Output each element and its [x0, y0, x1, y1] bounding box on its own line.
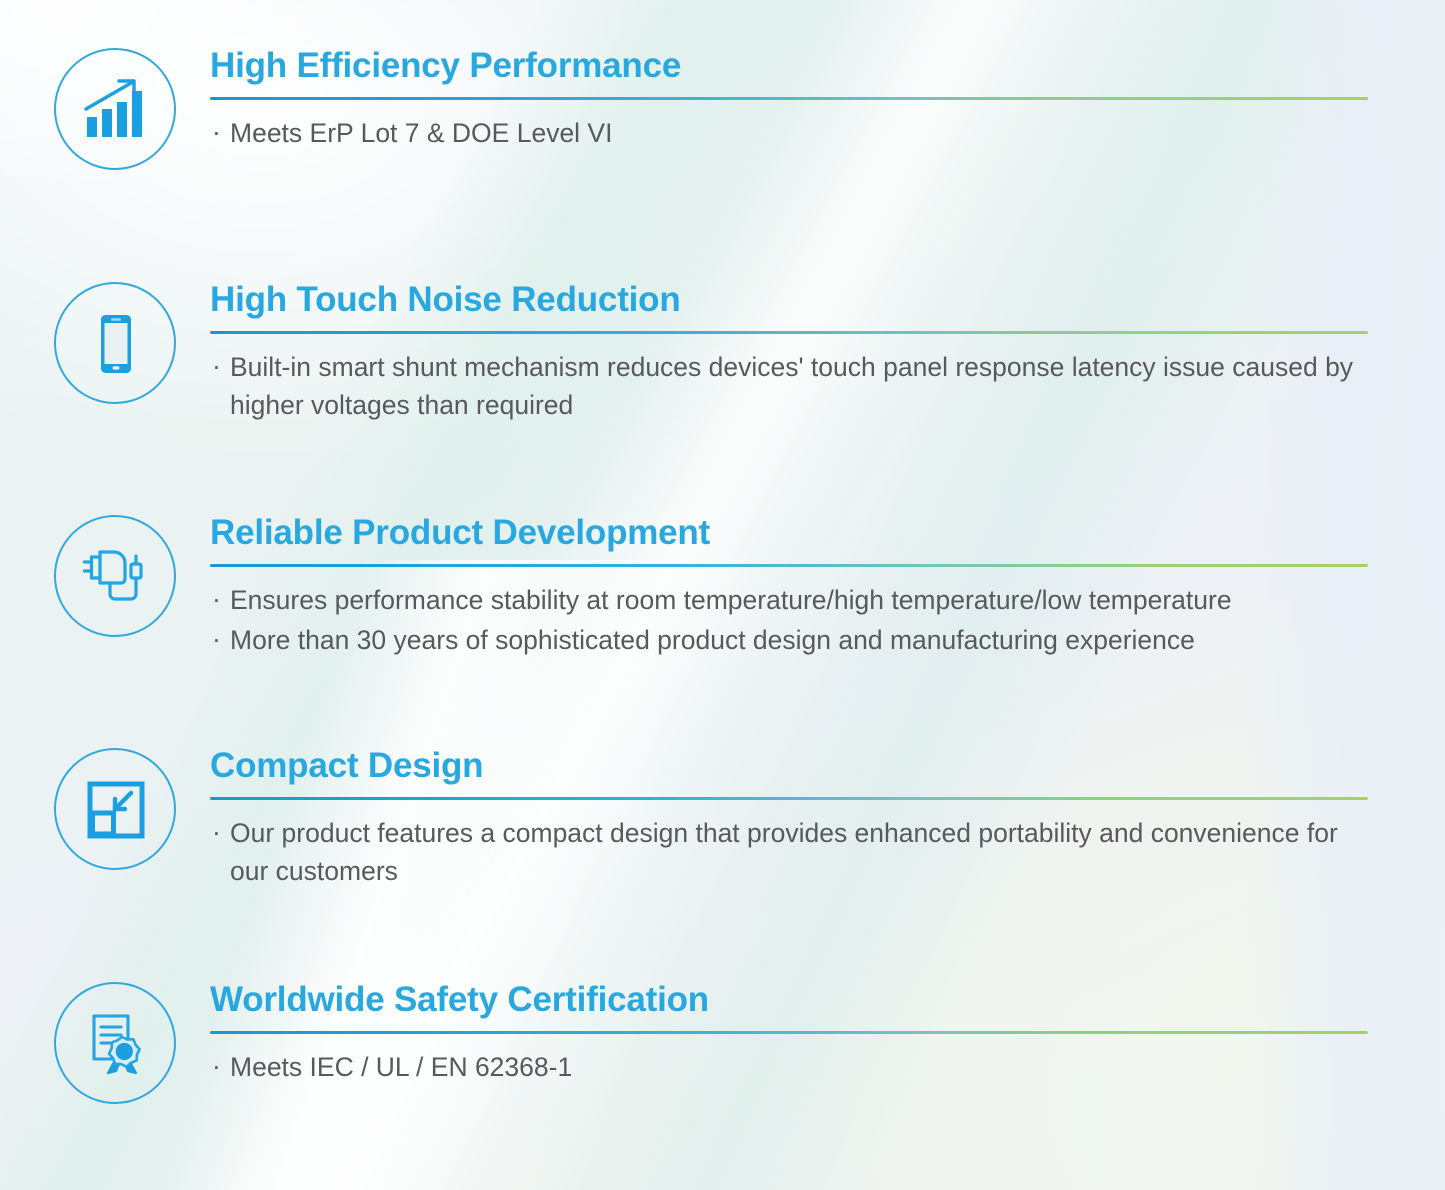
- smartphone-icon: [81, 309, 151, 379]
- feature-title: Compact Design: [210, 748, 1373, 783]
- feature-divider: [210, 331, 1368, 334]
- feature-icon-wrap: [54, 282, 178, 406]
- feature-title: Worldwide Safety Certification: [210, 982, 1373, 1017]
- feature-divider: [210, 1031, 1368, 1034]
- feature-item-worldwide-safety-certification: Worldwide Safety Certification Meets IEC…: [0, 982, 1445, 1106]
- feature-item-high-touch-noise-reduction: High Touch Noise Reduction Built-in smar…: [0, 282, 1445, 426]
- power-adapter-icon: [81, 542, 151, 612]
- feature-bullet: Our product features a compact design th…: [210, 815, 1373, 890]
- feature-bullet: More than 30 years of sophisticated prod…: [210, 622, 1373, 660]
- feature-item-compact-design: Compact Design Our product features a co…: [0, 748, 1445, 892]
- certificate-seal-icon: [81, 1009, 151, 1079]
- feature-title: Reliable Product Development: [210, 515, 1373, 550]
- feature-bullet: Meets ErP Lot 7 & DOE Level VI: [210, 115, 1373, 153]
- feature-icon-wrap: [54, 48, 178, 172]
- feature-icon-wrap: [54, 982, 178, 1106]
- feature-icon-wrap: [54, 515, 178, 639]
- feature-text-column: Worldwide Safety Certification Meets IEC…: [210, 982, 1445, 1089]
- feature-bullet-list: Ensures performance stability at room te…: [210, 582, 1373, 659]
- feature-title: High Efficiency Performance: [210, 48, 1373, 83]
- feature-bullet-list: Our product features a compact design th…: [210, 815, 1373, 890]
- feature-text-column: Compact Design Our product features a co…: [210, 748, 1445, 892]
- feature-bullet-list: Meets ErP Lot 7 & DOE Level VI: [210, 115, 1373, 153]
- feature-item-high-efficiency-performance: High Efficiency Performance Meets ErP Lo…: [0, 48, 1445, 172]
- feature-text-column: High Touch Noise Reduction Built-in smar…: [210, 282, 1445, 426]
- feature-bullet: Ensures performance stability at room te…: [210, 582, 1373, 620]
- feature-icon-wrap: [54, 748, 178, 872]
- feature-title: High Touch Noise Reduction: [210, 282, 1373, 317]
- bar-chart-growth-icon: [81, 75, 151, 145]
- feature-list: High Efficiency Performance Meets ErP Lo…: [0, 0, 1445, 1190]
- feature-item-reliable-product-development: Reliable Product Development Ensures per…: [0, 515, 1445, 661]
- feature-bullet: Meets IEC / UL / EN 62368-1: [210, 1049, 1373, 1087]
- feature-bullet-list: Built-in smart shunt mechanism reduces d…: [210, 349, 1373, 424]
- feature-bullet-list: Meets IEC / UL / EN 62368-1: [210, 1049, 1373, 1087]
- feature-divider: [210, 97, 1368, 100]
- feature-bullet: Built-in smart shunt mechanism reduces d…: [210, 349, 1373, 424]
- feature-text-column: Reliable Product Development Ensures per…: [210, 515, 1445, 661]
- feature-text-column: High Efficiency Performance Meets ErP Lo…: [210, 48, 1445, 155]
- feature-list-page: High Efficiency Performance Meets ErP Lo…: [0, 0, 1445, 1190]
- feature-divider: [210, 797, 1368, 800]
- feature-divider: [210, 564, 1368, 567]
- compact-resize-icon: [81, 775, 151, 845]
